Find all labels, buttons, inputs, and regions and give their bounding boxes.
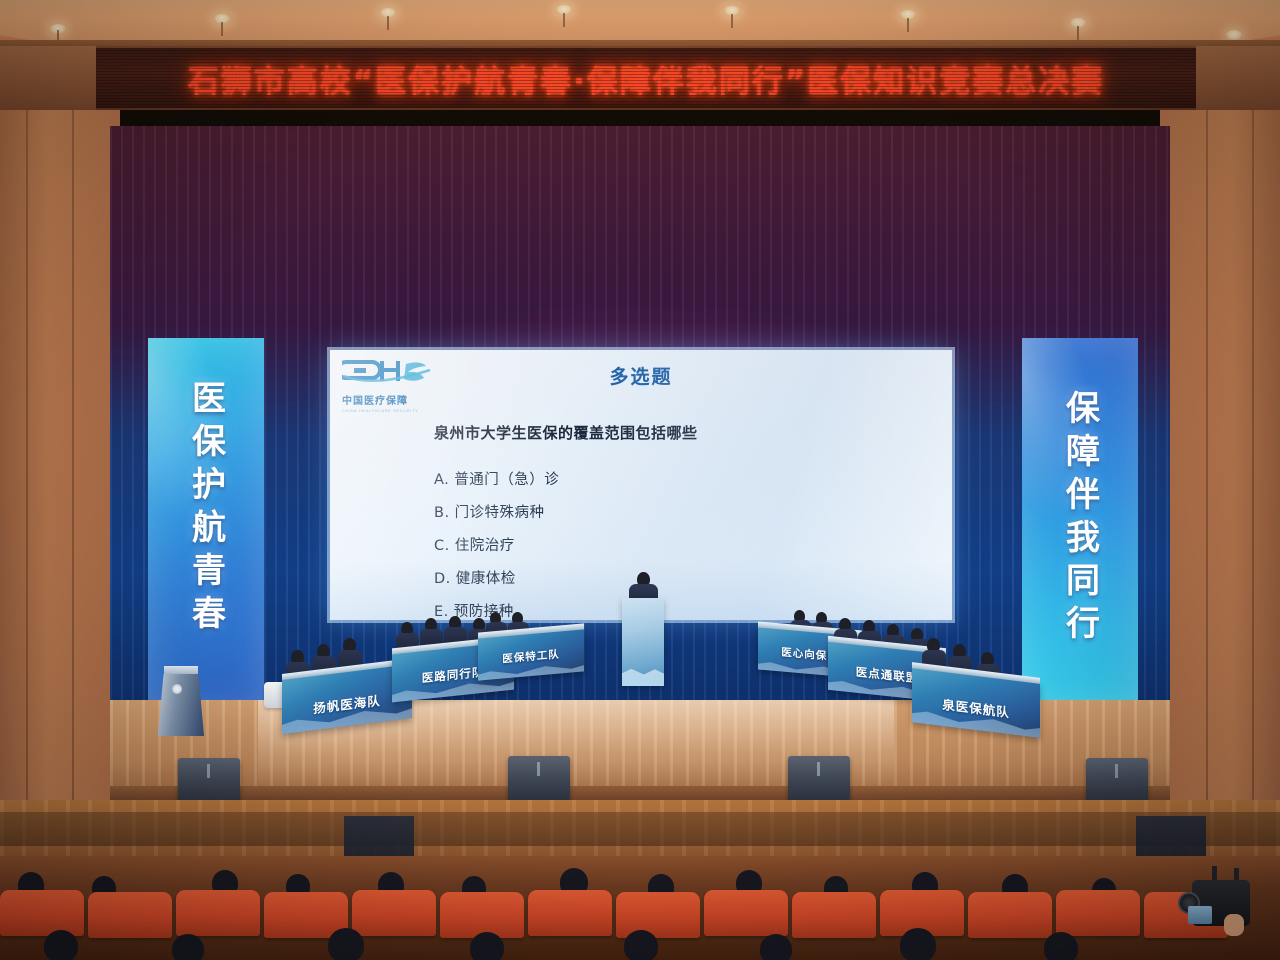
led-pillar-right: 保障伴我同行 [1022,338,1138,710]
led-pillar-left-text: 医保护航青春 [182,380,231,638]
slide-options-list: A.普通门（急）诊 B.门诊特殊病种 C.住院治疗 D.健康体检 E.预防接种 [434,468,559,620]
stage-monitor-speaker [788,756,850,800]
audience-head-front [44,930,78,960]
led-banner-text: 石狮市高校“医保护航青春·保障伴我同行”医保知识竞赛总决赛 [188,56,1105,101]
slide-option: D.健康体检 [434,567,559,588]
led-pillar-right-text: 保障伴我同行 [1056,390,1105,648]
side-lectern [158,674,204,736]
audience-seat [528,890,612,936]
video-camera [1178,862,1256,936]
wall-panel-line [26,110,28,870]
audience-seat [0,890,84,936]
slide-option: C.住院治疗 [434,534,559,555]
audience-seat [704,890,788,936]
audience-seat [616,892,700,938]
banner-frame-right [1184,46,1280,110]
stage-monitor-speaker [178,758,240,802]
option-key: E. [434,604,449,620]
camera-viewfinder-screen [1188,906,1212,924]
option-text: 预防接种 [454,604,514,620]
spotlight-stem [221,22,223,36]
stage-floor-edge [110,786,1170,800]
spotlight-stem [907,18,909,32]
proscenium-wall-right [1160,110,1280,870]
podium-wave-graphic [622,664,664,686]
option-text: 住院治疗 [455,538,515,554]
audience-head-front [470,932,504,960]
audience-seat [176,890,260,936]
option-key: D. [434,571,451,587]
slide-question: 泉州市大学生医保的覆盖范围包括哪些 [434,422,698,443]
slide-option: A.普通门（急）诊 [434,468,559,489]
wall-panel-line [1206,110,1208,870]
led-banner: 石狮市高校“医保护航青春·保障伴我同行”医保知识竞赛总决赛 [96,46,1196,110]
slide-title: 多选题 [330,362,952,389]
audience-seat [352,890,436,936]
auditorium-scene: 石狮市高校“医保护航青春·保障伴我同行”医保知识竞赛总决赛 医保护航青春 保障伴… [0,0,1280,960]
audience-head-front [172,934,204,960]
team-name-label: 泉医保航队 [912,690,1040,725]
audience-area [0,856,1280,960]
option-key: C. [434,538,450,554]
stage-apron-shadow [0,812,1280,846]
option-text: 健康体检 [456,571,516,587]
spotlight-stem [1077,26,1079,40]
operator-hand [1224,914,1244,936]
audience-seat [792,892,876,938]
chs-logo-cn: 中国医疗保障 [342,392,438,407]
slide-option: B.门诊特殊病种 [434,501,559,522]
spotlight-stem [563,13,565,27]
audience-seat [440,892,524,938]
host-podium [622,598,664,686]
option-text: 门诊特殊病种 [455,505,545,521]
audience-head-front [624,930,658,960]
audience-head-front [760,934,792,960]
ceiling-spotlight-icon [1226,30,1242,40]
audience-seat [968,892,1052,938]
audience-head-front [900,928,936,960]
wall-panel-line [72,110,74,870]
stage-monitor-speaker [1086,758,1148,802]
team-name-label: 医保特工队 [478,644,584,668]
chs-logo-en: CHINA HEALTHCARE SECURITY [342,408,438,413]
lectern-emblem-icon [172,684,182,694]
audience-seat [1056,890,1140,936]
audience-seat [88,892,172,938]
stage-monitor-speaker [508,756,570,800]
proscenium-wall-left [0,110,120,870]
audience-head-front [328,928,364,960]
option-key: B. [434,505,450,521]
option-text: 普通门（急）诊 [454,472,559,488]
led-pillar-left: 医保护航青春 [148,338,264,710]
spotlight-stem [731,14,733,28]
wall-panel-line [1252,110,1254,870]
option-key: A. [434,472,449,488]
spotlight-stem [387,16,389,30]
audience-head-front [1044,932,1078,960]
banner-frame-left [0,46,96,110]
